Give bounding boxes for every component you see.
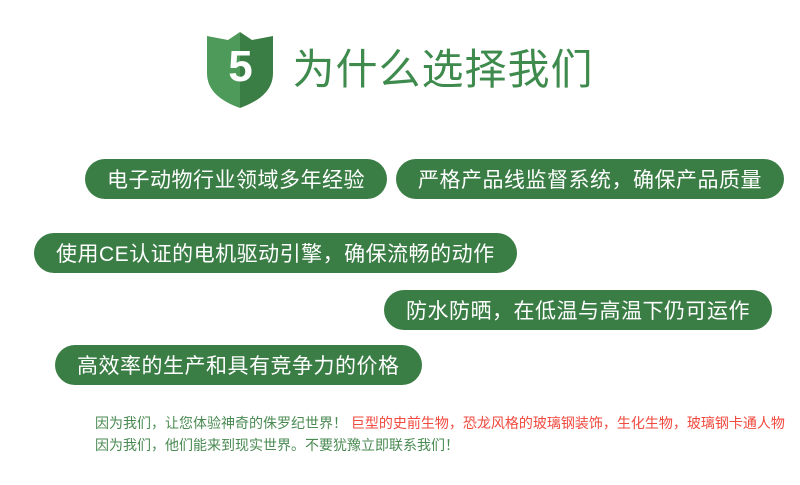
feature-pill: 使用CE认证的电机驱动引擎，确保流畅的动作 [34, 233, 517, 273]
footer-line-1: 因为我们，让您体验神奇的侏罗纪世界！ 巨型的史前生物，恐龙风格的玻璃钢装饰，生化… [95, 412, 795, 434]
footer-line-2: 因为我们，他们能来到现实世界。不要犹豫立即联系我们！ [95, 434, 795, 456]
feature-pill: 电子动物行业领域多年经验 [85, 159, 387, 199]
why-choose-us-banner: 5 为什么选择我们 电子动物行业领域多年经验 严格产品线监督系统，确保产品质量 … [0, 0, 800, 485]
feature-pill: 高效率的生产和具有竞争力的价格 [55, 345, 422, 385]
page-title: 为什么选择我们 [292, 49, 593, 91]
banner-header: 5 为什么选择我们 [0, 24, 800, 116]
feature-pill: 严格产品线监督系统，确保产品质量 [396, 159, 784, 199]
shield-badge: 5 [206, 31, 274, 109]
footer-text: 因为我们，让您体验神奇的侏罗纪世界！ 巨型的史前生物，恐龙风格的玻璃钢装饰，生化… [95, 412, 795, 456]
badge-number: 5 [206, 31, 274, 109]
footer-line-1-normal: 因为我们，让您体验神奇的侏罗纪世界！ [95, 415, 347, 431]
feature-pill: 防水防晒，在低温与高温下仍可运作 [384, 290, 772, 330]
footer-line-1-highlight: 巨型的史前生物，恐龙风格的玻璃钢装饰，生化生物，玻璃钢卡通人物 [351, 415, 785, 431]
